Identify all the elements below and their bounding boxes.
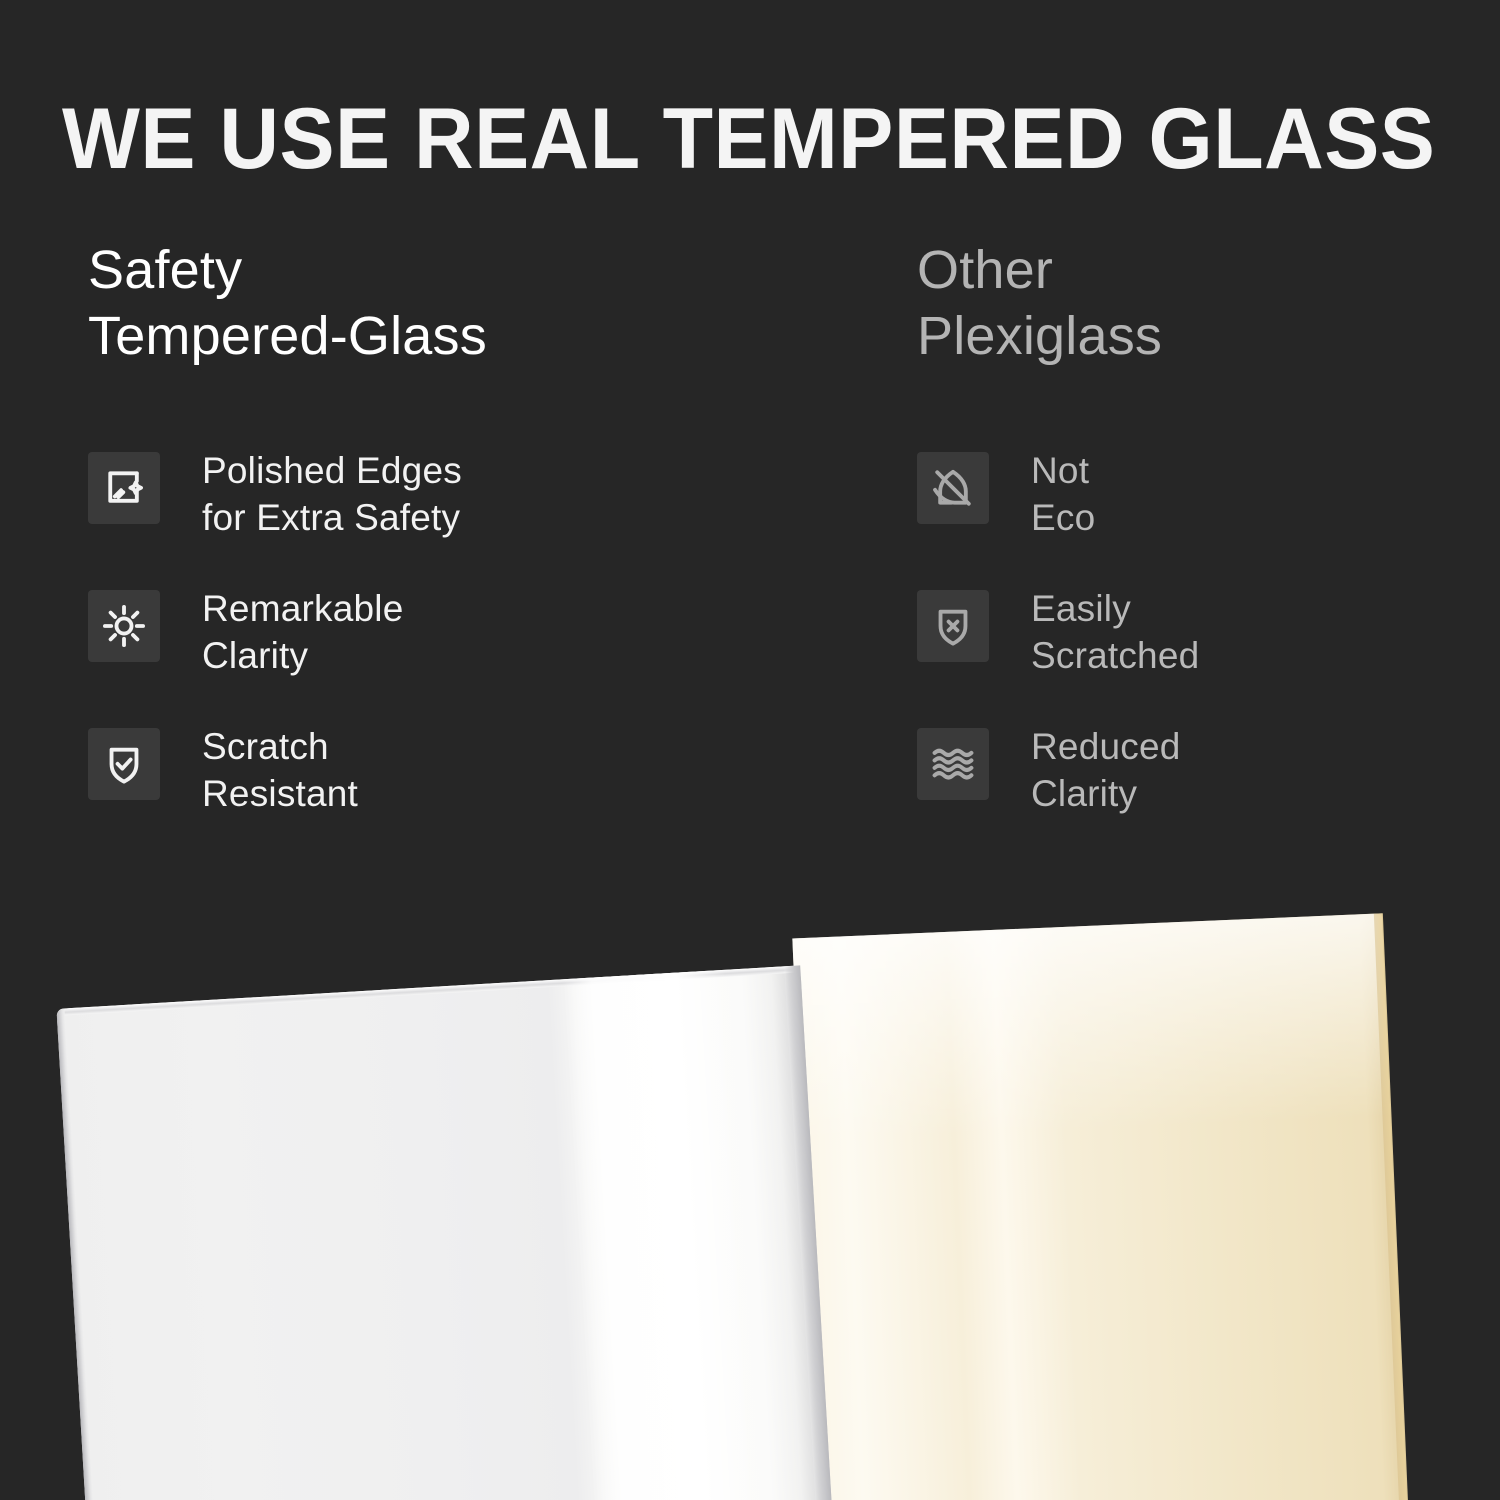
page-title: WE USE REAL TEMPERED GLASS bbox=[62, 94, 1396, 184]
tempered-glass-panel bbox=[56, 965, 831, 1500]
shield-check-icon bbox=[88, 728, 160, 800]
leaf-crossed-out-icon bbox=[917, 452, 989, 524]
feature-label: Remarkable Clarity bbox=[202, 586, 403, 680]
feature-list-tempered-glass: Polished Edges for Extra Safety Remarkab… bbox=[88, 448, 808, 818]
feature-label: Scratch Resistant bbox=[202, 724, 358, 818]
feature-scratch-resistant: Scratch Resistant bbox=[88, 724, 808, 818]
feature-easily-scratched: Easily Scratched bbox=[917, 586, 1457, 680]
glass-left-edge bbox=[56, 1008, 96, 1500]
feature-label: Easily Scratched bbox=[1031, 586, 1199, 680]
product-panel-group bbox=[0, 860, 1500, 1500]
feature-reduced-clarity: Reduced Clarity bbox=[917, 724, 1457, 818]
infographic-page: WE USE REAL TEMPERED GLASS Safety Temper… bbox=[0, 0, 1500, 1500]
feature-remarkable-clarity: Remarkable Clarity bbox=[88, 586, 808, 680]
polished-square-sparkle-icon bbox=[88, 452, 160, 524]
column-plexiglass: Other Plexiglass Not Eco bbox=[917, 238, 1457, 862]
column-title-plexiglass: Other Plexiglass bbox=[917, 238, 1457, 370]
plexiglass-panel bbox=[792, 913, 1407, 1500]
shield-x-icon bbox=[917, 590, 989, 662]
feature-label: Not Eco bbox=[1031, 448, 1095, 542]
feature-label: Reduced Clarity bbox=[1031, 724, 1181, 818]
column-title-tempered-glass: Safety Tempered-Glass bbox=[88, 238, 808, 370]
feature-not-eco: Not Eco bbox=[917, 448, 1457, 542]
glass-reflection-highlight bbox=[562, 970, 757, 1500]
sun-icon bbox=[88, 590, 160, 662]
comparison-columns: Safety Tempered-Glass Polished Edges for… bbox=[0, 238, 1500, 878]
wavy-lines-icon bbox=[917, 728, 989, 800]
column-tempered-glass: Safety Tempered-Glass Polished Edges for… bbox=[88, 238, 808, 862]
feature-label: Polished Edges for Extra Safety bbox=[202, 448, 462, 542]
feature-list-plexiglass: Not Eco Easily Scratched bbox=[917, 448, 1457, 818]
feature-polished-edges: Polished Edges for Extra Safety bbox=[88, 448, 808, 542]
